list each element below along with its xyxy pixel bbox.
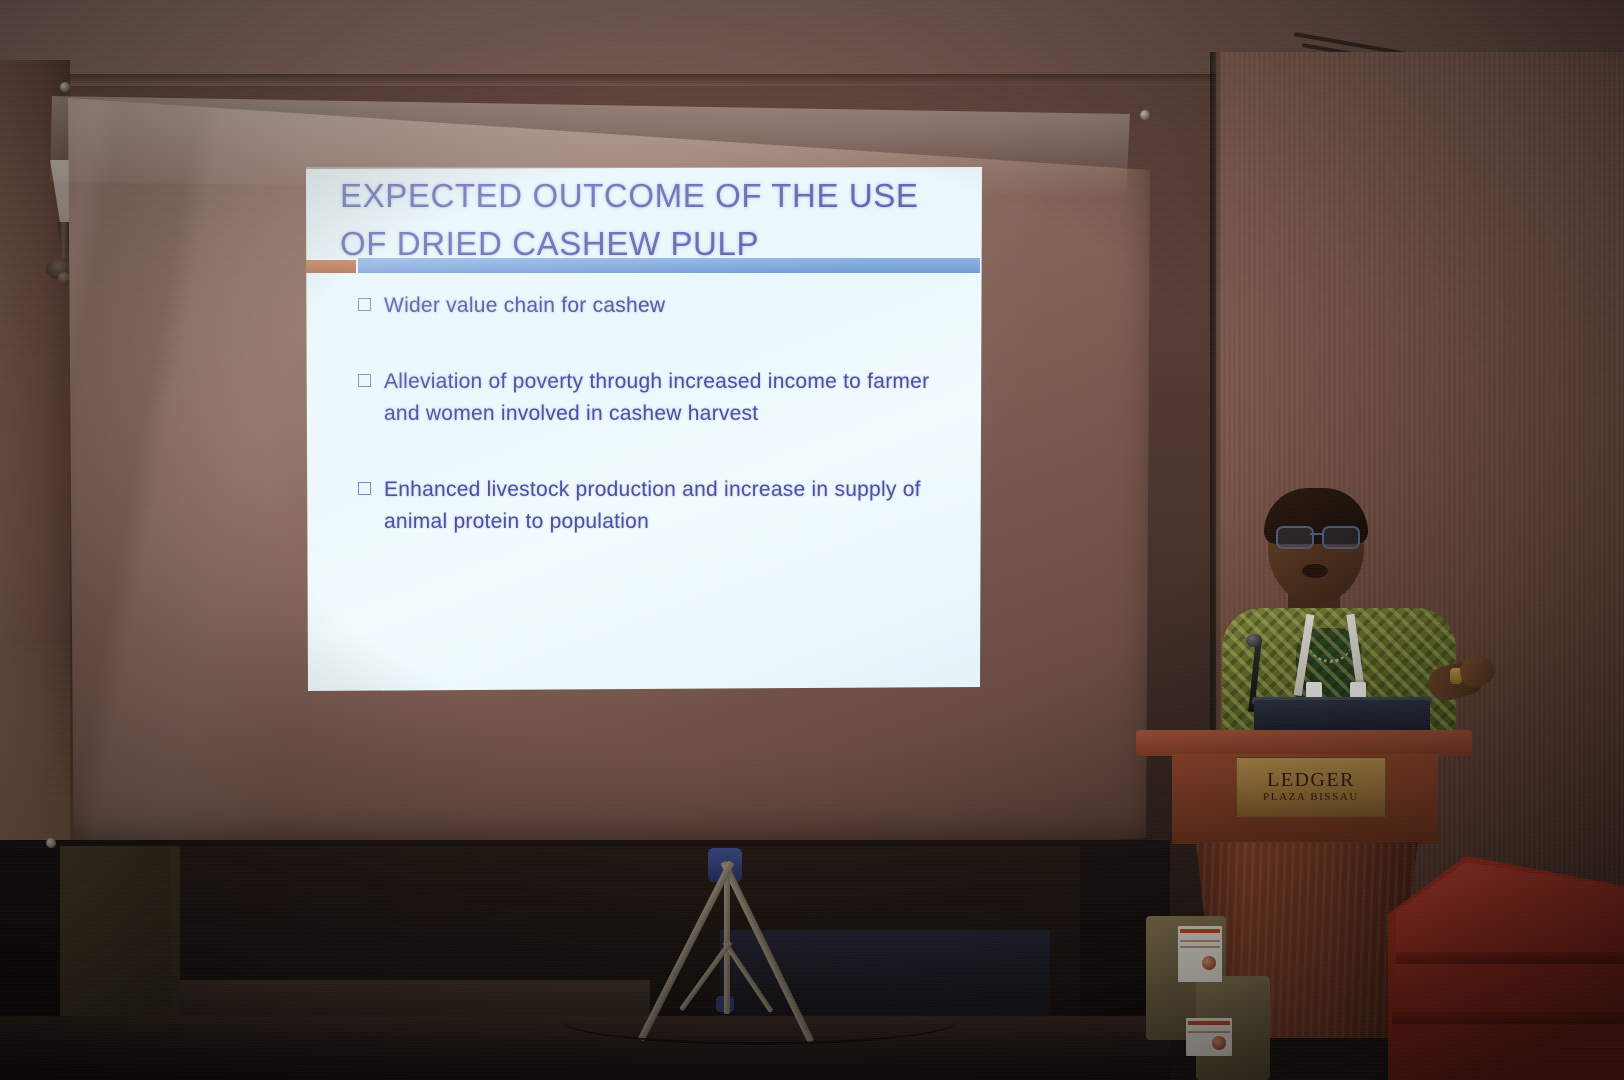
bullet-text: Wider value chain for cashew xyxy=(384,294,665,317)
stair-edge xyxy=(1392,1012,1624,1024)
floor-pillar xyxy=(60,846,180,1021)
bullet-text: Enhanced livestock production and increa… xyxy=(384,478,921,533)
flyer xyxy=(1178,926,1222,982)
banner-grommet xyxy=(60,82,70,92)
plaque-line-1: LEDGER xyxy=(1267,770,1355,790)
list-item: Alleviation of poverty through increased… xyxy=(356,366,956,430)
banner-grommet xyxy=(46,838,56,848)
venue-plaque: LEDGER PLAZA BISSAU xyxy=(1236,757,1386,817)
lens-left xyxy=(1276,526,1314,549)
sconce-finial xyxy=(58,272,71,285)
list-item: Wider value chain for cashew xyxy=(356,290,956,322)
slide-accent-blue xyxy=(358,258,980,273)
square-bullet-icon xyxy=(358,482,371,495)
microphone-icon xyxy=(1246,634,1262,647)
plaque-line-2: PLAZA BISSAU xyxy=(1263,790,1359,804)
speaker-mouth xyxy=(1302,564,1328,578)
square-bullet-icon xyxy=(358,374,371,387)
slide-title-line-1: EXPECTED OUTCOME OF THE USE xyxy=(340,172,950,220)
tripod-leg xyxy=(724,862,730,1014)
square-bullet-icon xyxy=(358,298,371,311)
list-item: Enhanced livestock production and increa… xyxy=(356,474,956,538)
slide-bullet-list: Wider value chain for cashew Alleviation… xyxy=(356,290,956,582)
presentation-photo-scene: EXPECTED OUTCOME OF THE USE OF DRIED CAS… xyxy=(0,0,1624,1080)
lens-right xyxy=(1322,526,1360,549)
banner-grommet xyxy=(1140,110,1150,120)
slide-title: EXPECTED OUTCOME OF THE USE OF DRIED CAS… xyxy=(340,172,950,268)
glasses-bridge xyxy=(1310,533,1322,535)
bullet-text: Alleviation of poverty through increased… xyxy=(384,370,929,425)
slide-accent-orange xyxy=(306,260,356,273)
eyeglasses-icon xyxy=(1276,526,1360,546)
podium-top xyxy=(1136,730,1472,756)
flyer xyxy=(1186,1018,1232,1056)
